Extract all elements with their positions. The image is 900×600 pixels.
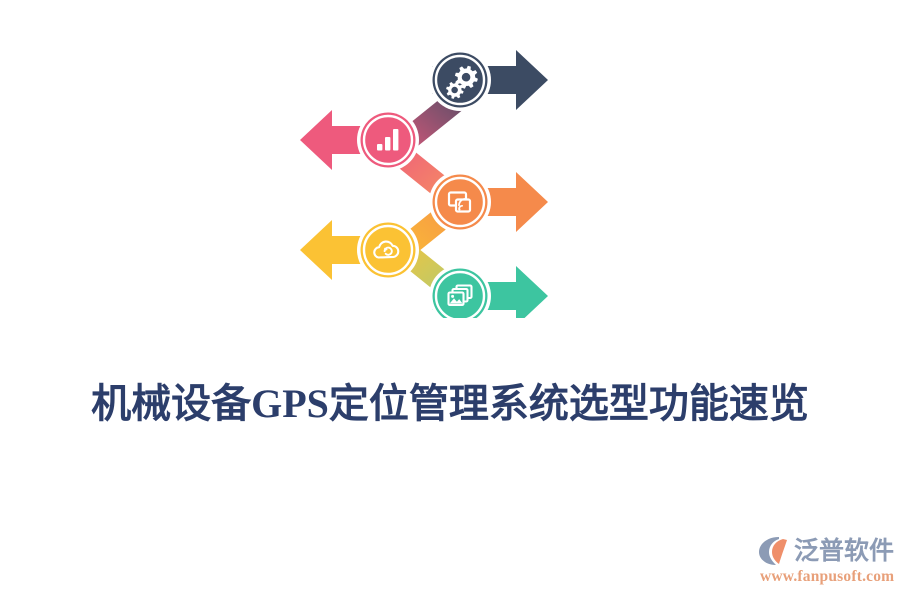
- zigzag-infographic: [280, 38, 580, 318]
- node-images: [429, 265, 548, 318]
- brand-logo[interactable]: 泛普软件 www.fanpusoft.com: [757, 533, 897, 593]
- node-cloud-sync: [300, 219, 419, 281]
- node-gears: [429, 49, 548, 111]
- brand-url: www.fanpusoft.com: [757, 568, 897, 586]
- page-title: 机械设备GPS定位管理系统选型功能速览: [0, 378, 900, 430]
- brand-row: 泛普软件: [757, 533, 897, 569]
- brand-name: 泛普软件: [794, 535, 894, 567]
- poster-canvas: 机械设备GPS定位管理系统选型功能速览 泛普软件 www.fanpusoft.c…: [0, 0, 900, 600]
- fanpu-logo-icon: [757, 535, 791, 567]
- node-bar-chart: [300, 109, 419, 171]
- node-screen-cast: [429, 171, 548, 233]
